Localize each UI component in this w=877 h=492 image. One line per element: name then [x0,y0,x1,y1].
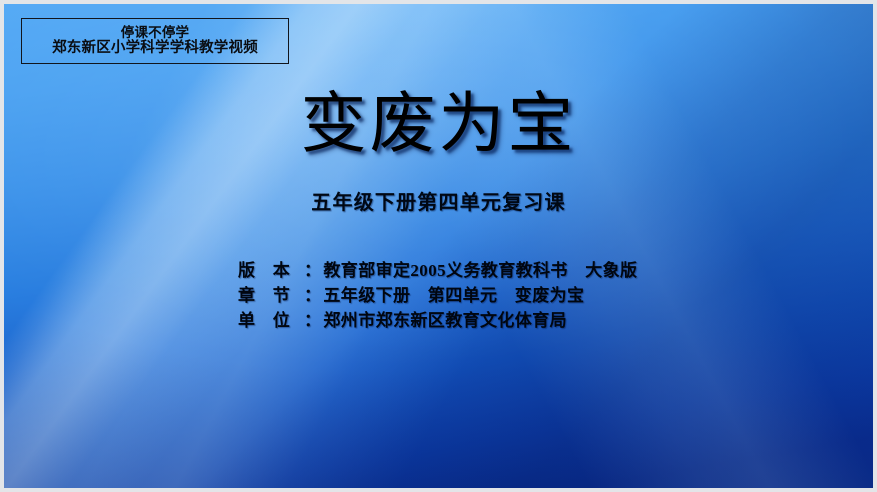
slide-canvas: 停课不停学 郑东新区小学科学学科教学视频 变废为宝 五年级下册第四单元复习课 版… [0,0,877,492]
info-row-chapter: 章 节 ： 五年级下册 第四单元 变废为宝 [238,281,637,306]
info-colon-organization: ： [304,306,321,331]
background-vignette [4,4,873,488]
notice-line-secondary: 郑东新区小学科学学科教学视频 [52,40,258,56]
info-block: 版 本 ： 教育部审定2005义务教育教科书 大象版 章 节 ： 五年级下册 第… [238,256,637,331]
info-label-chapter: 章 节 [238,281,304,306]
info-label-edition: 版 本 [238,256,304,281]
info-row-organization: 单 位 ： 郑州市郑东新区教育文化体育局 [238,306,637,331]
info-label-organization: 单 位 [238,306,304,331]
slide-title: 变废为宝 [4,90,873,160]
info-colon-chapter: ： [304,281,321,306]
background-diagonal-highlight [4,4,873,488]
notice-box: 停课不停学 郑东新区小学科学学科教学视频 [21,18,289,64]
notice-line-primary: 停课不停学 [121,25,190,40]
info-colon-edition: ： [304,256,321,281]
slide-subtitle: 五年级下册第四单元复习课 [4,186,873,215]
background-light-ray [4,4,873,488]
background-base-gradient [4,4,873,488]
background-shadow-wedge [4,4,873,488]
info-value-chapter: 五年级下册 第四单元 变废为宝 [323,281,584,306]
info-value-organization: 郑州市郑东新区教育文化体育局 [323,306,567,331]
background-secondary-streak [4,4,873,488]
info-row-edition: 版 本 ： 教育部审定2005义务教育教科书 大象版 [238,256,637,281]
info-value-edition: 教育部审定2005义务教育教科书 大象版 [323,256,637,281]
